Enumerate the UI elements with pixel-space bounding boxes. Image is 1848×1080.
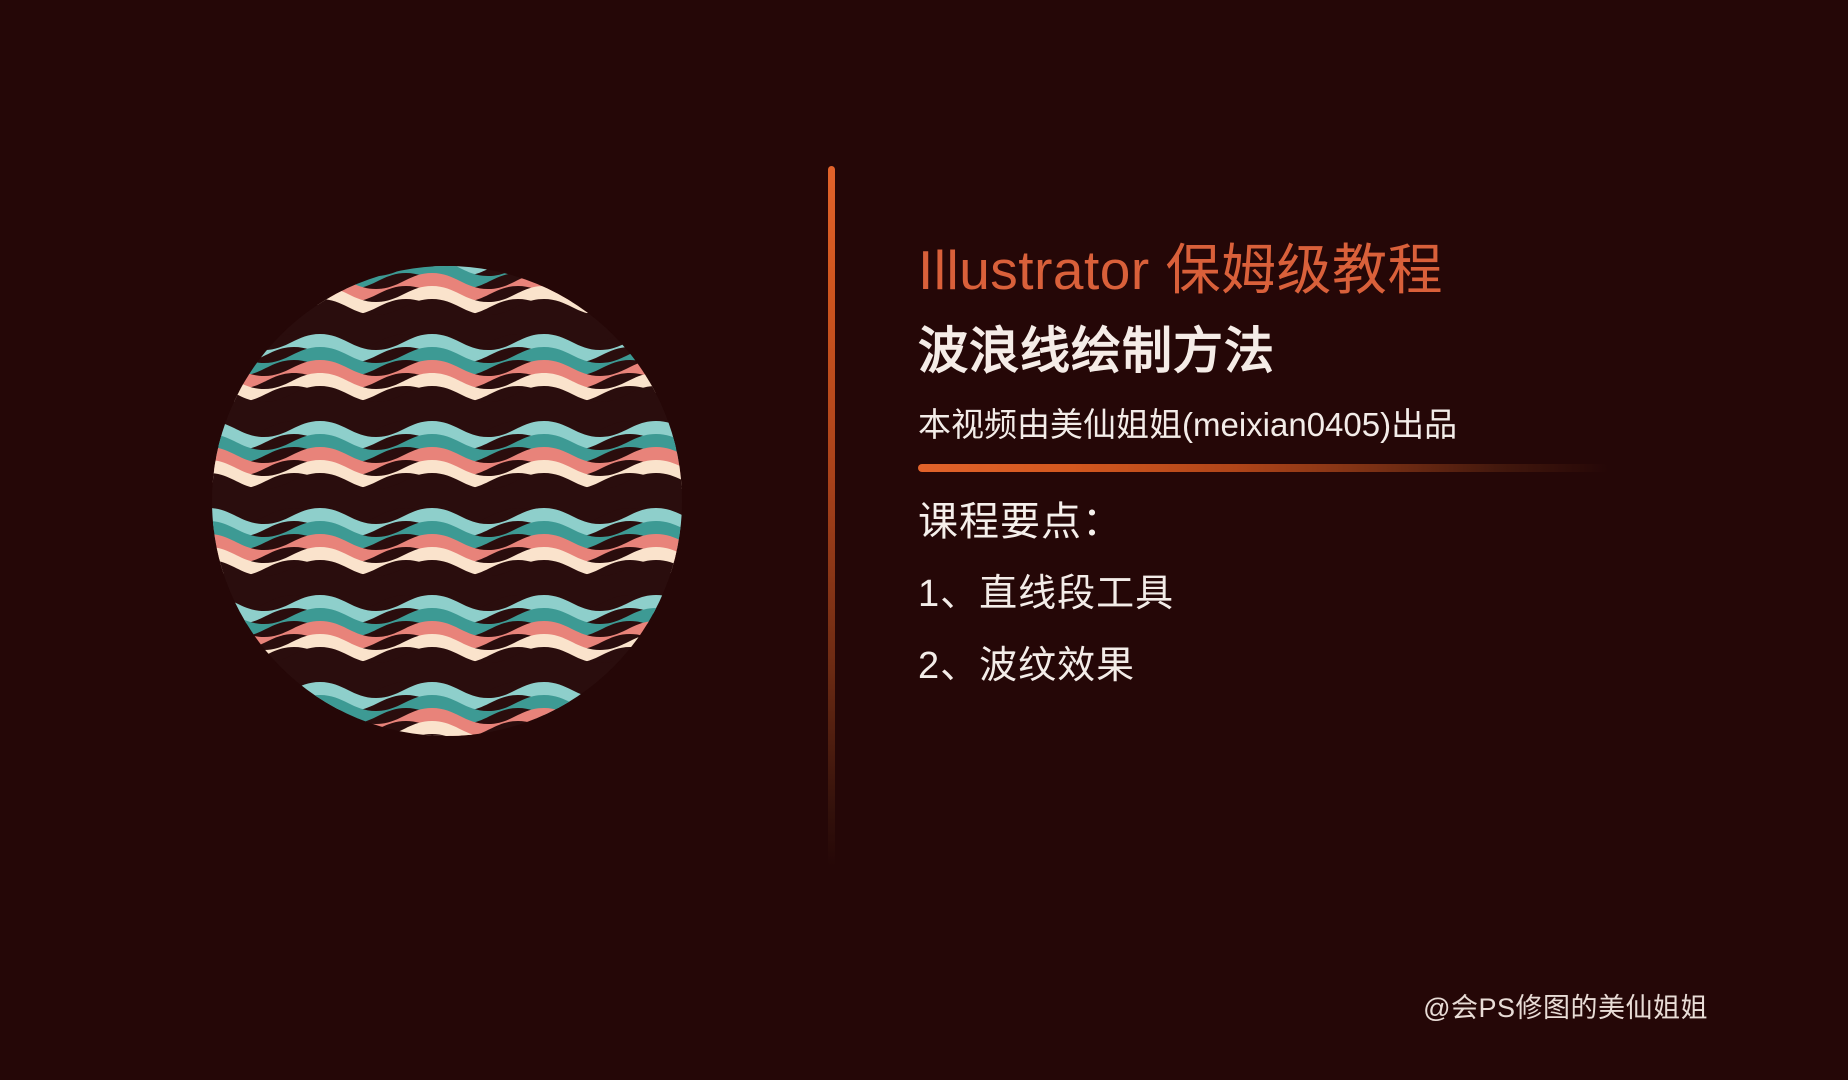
wavy-stripe-circle-artwork [212,266,682,736]
list-item: 2、波纹效果 [918,644,1638,690]
list-item: 1、直线段工具 [918,572,1638,618]
key-points-list: 1、直线段工具 2、波纹效果 [918,572,1638,689]
horizontal-accent-rule [918,464,1608,472]
section-title-key-points: 课程要点： [918,498,1638,546]
vertical-accent-rule [828,166,835,866]
slide-canvas: Illustrator 保姆级教程 波浪线绘制方法 本视频由美仙姐姐(meixi… [0,0,1848,1080]
byline-text: 本视频由美仙姐姐(meixian0405)出品 [918,405,1638,445]
page-title: 波浪线绘制方法 [918,324,1638,379]
wavy-stripe-circle-svg [212,266,682,736]
content-column: Illustrator 保姆级教程 波浪线绘制方法 本视频由美仙姐姐(meixi… [918,160,1638,690]
course-series-title: Illustrator 保姆级教程 [918,242,1638,300]
watermark-handle: @会PS修图的美仙姐姐 [1423,986,1708,1025]
wave-band-group [212,266,682,736]
